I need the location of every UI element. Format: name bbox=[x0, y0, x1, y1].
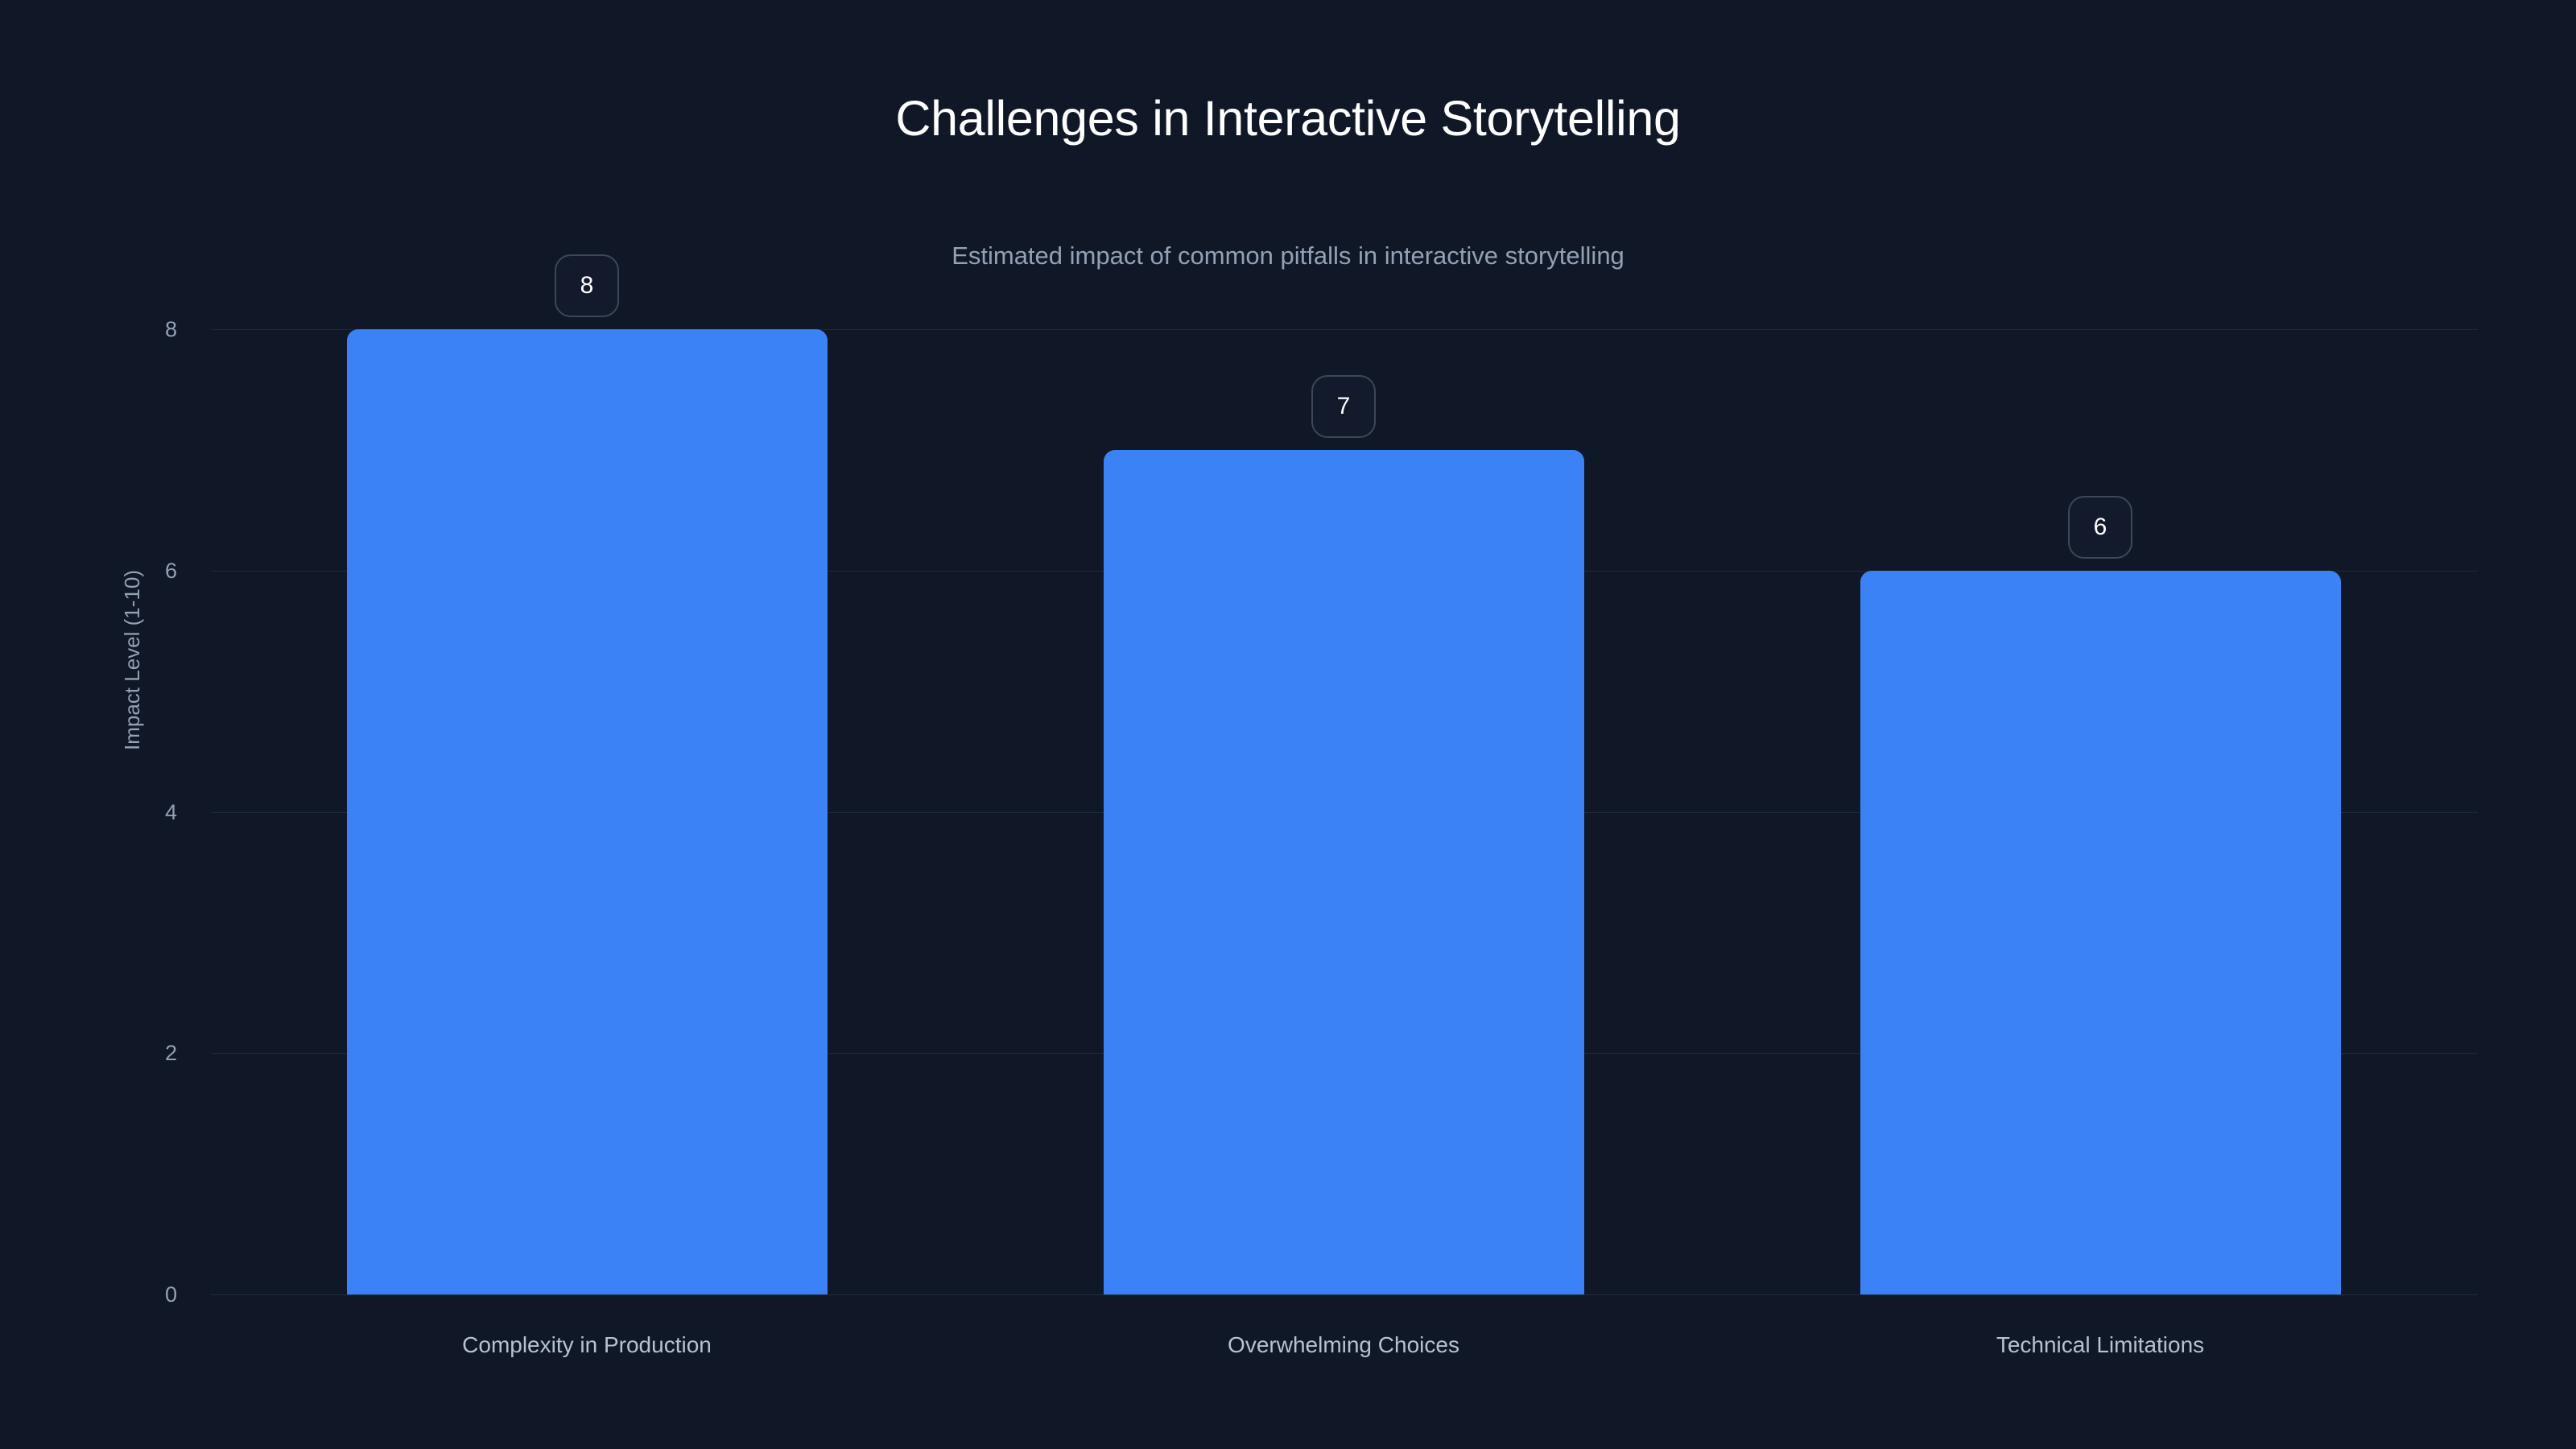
plot-area bbox=[211, 329, 2478, 1294]
bar-overwhelming-choices[interactable] bbox=[1104, 450, 1584, 1294]
bar-technical-limitations[interactable] bbox=[1860, 571, 2341, 1294]
bar-complexity-in-production[interactable] bbox=[347, 329, 828, 1294]
gridline-0-baseline bbox=[211, 1294, 2478, 1295]
value-badge-overwhelming-choices: 7 bbox=[1311, 375, 1376, 438]
y-tick-label-2: 2 bbox=[80, 1042, 177, 1064]
x-axis-label-technical-limitations: Technical Limitations bbox=[1996, 1332, 2204, 1358]
y-axis-title: Impact Level (1-10) bbox=[116, 419, 148, 902]
chart-subtitle: Estimated impact of common pitfalls in i… bbox=[0, 242, 2576, 270]
chart-title: Challenges in Interactive Storytelling bbox=[0, 90, 2576, 147]
x-axis-label-complexity-in-production: Complexity in Production bbox=[462, 1332, 712, 1358]
y-tick-label-8: 8 bbox=[80, 319, 177, 341]
y-tick-label-4: 4 bbox=[80, 802, 177, 824]
x-axis-label-overwhelming-choices: Overwhelming Choices bbox=[1228, 1332, 1459, 1358]
value-badge-complexity-in-production: 8 bbox=[555, 254, 619, 317]
y-tick-label-6: 6 bbox=[80, 560, 177, 582]
y-tick-label-0: 0 bbox=[80, 1284, 177, 1306]
bar-chart-figure: Challenges in Interactive Storytelling E… bbox=[0, 0, 2576, 1449]
value-badge-technical-limitations: 6 bbox=[2068, 496, 2132, 559]
